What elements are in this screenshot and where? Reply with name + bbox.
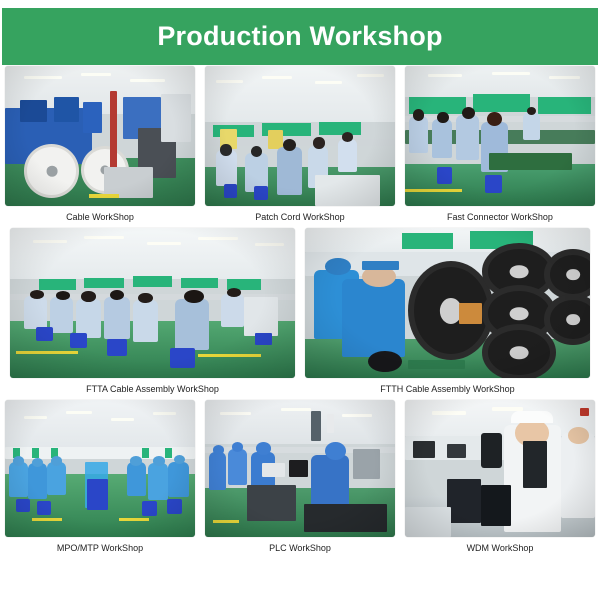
plc-workshop-photo[interactable] — [205, 400, 395, 537]
photo-caption: Fast Connector WorkShop — [447, 206, 553, 228]
photo-caption: FTTA Cable Assembly WorkShop — [86, 378, 219, 400]
cable-workshop-photo[interactable] — [5, 66, 195, 206]
wdm-workshop-photo[interactable] — [405, 400, 595, 537]
production-workshop-page: Production Workshop — [0, 0, 600, 600]
gallery-item-ftth-cable-assembly-workshop[interactable]: FTTH Cable Assembly WorkShop — [305, 228, 590, 400]
gallery-item-cable-workshop[interactable]: Cable WorkShop — [5, 66, 195, 228]
photo-caption: FTTH Cable Assembly WorkShop — [380, 378, 514, 400]
gallery-item-fast-connector-workshop[interactable]: Fast Connector WorkShop — [405, 66, 595, 228]
ftth-cable-assembly-workshop-photo[interactable] — [305, 228, 590, 378]
photo-caption: Patch Cord WorkShop — [255, 206, 344, 228]
patch-cord-workshop-photo[interactable] — [205, 66, 395, 206]
page-header-banner: Production Workshop — [2, 8, 598, 65]
gallery-item-wdm-workshop[interactable]: WDM WorkShop — [405, 400, 595, 559]
page-title: Production Workshop — [157, 23, 442, 50]
gallery-item-patch-cord-workshop[interactable]: Patch Cord WorkShop — [205, 66, 395, 228]
gallery-item-plc-workshop[interactable]: PLC WorkShop — [205, 400, 395, 559]
gallery-item-mpo-mtp-workshop[interactable]: MPO/MTP WorkShop — [5, 400, 195, 559]
photo-caption: WDM WorkShop — [467, 537, 534, 559]
gallery-item-ftta-cable-assembly-workshop[interactable]: FTTA Cable Assembly WorkShop — [10, 228, 295, 400]
gallery-row-1: Cable WorkShop — [0, 66, 600, 228]
gallery-row-2: FTTA Cable Assembly WorkShop — [0, 228, 600, 400]
photo-caption: PLC WorkShop — [269, 537, 331, 559]
mpo-mtp-workshop-photo[interactable] — [5, 400, 195, 537]
workshop-gallery: Cable WorkShop — [0, 66, 600, 559]
photo-caption: Cable WorkShop — [66, 206, 134, 228]
gallery-row-3: MPO/MTP WorkShop — [0, 400, 600, 559]
photo-caption: MPO/MTP WorkShop — [57, 537, 143, 559]
fast-connector-workshop-photo[interactable] — [405, 66, 595, 206]
ftta-cable-assembly-workshop-photo[interactable] — [10, 228, 295, 378]
